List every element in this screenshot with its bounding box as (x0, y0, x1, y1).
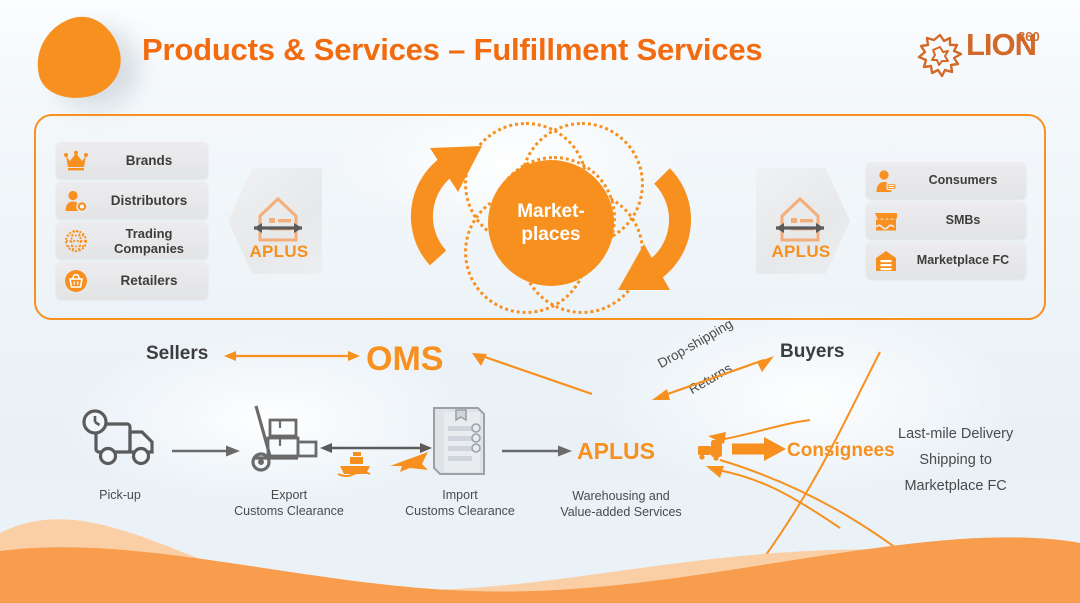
globe-icon (56, 229, 96, 253)
chip-label: Brands (96, 153, 208, 168)
consumer-person-icon (866, 169, 906, 193)
small-truck-icon (696, 436, 728, 464)
delivery-truck-clock-icon (78, 408, 164, 472)
sellers-oms-arrow (222, 345, 362, 367)
warehouse-icon (866, 249, 906, 273)
aplus-label: APLUS (232, 242, 326, 262)
slide-canvas: Products & Services – Fulfillment Servic… (0, 0, 1080, 603)
marketplaces-label-line1: Market- (517, 200, 585, 223)
chip-brands[interactable]: Brands (56, 142, 208, 179)
marketplaces-label-line2: places (521, 223, 580, 246)
aplus-warehouse-label: APLUS (577, 438, 655, 465)
last-mile-line2: Shipping to (898, 447, 1013, 473)
chip-label: Distributors (96, 193, 208, 208)
chip-label: SMBs (906, 213, 1026, 228)
chip-trading-companies[interactable]: Trading CompaniesTradingCompanies (56, 222, 208, 259)
chip-label: Consumers (906, 173, 1026, 188)
last-mile-line1: Last-mile Delivery (898, 421, 1013, 447)
chip-smbs[interactable]: SMBs (866, 202, 1026, 239)
bottom-wave-decoration (0, 493, 1080, 603)
logo-wordmark: 360 LION (966, 30, 1036, 60)
customs-document-icon (428, 406, 490, 478)
chip-label: Retailers (96, 273, 208, 288)
consignees-label: Consignees (787, 440, 895, 462)
flow-arrow-3 (502, 442, 576, 460)
marketplaces-graphic: Market- places (400, 118, 700, 318)
chip-distributors[interactable]: Distributors (56, 182, 208, 219)
person-badge-icon (56, 190, 96, 212)
oms-to-aplus-arrow (470, 350, 600, 400)
flow-arrow-1 (172, 442, 242, 460)
oms-label: OMS (366, 340, 443, 379)
last-mile-text: Last-mile Delivery Shipping to Marketpla… (898, 421, 1013, 499)
chip-marketplace-fc[interactable]: Marketplace FC (866, 242, 1026, 279)
hand-truck-boxes-icon (244, 404, 324, 474)
sellers-label: Sellers (146, 343, 208, 365)
shop-awning-icon (866, 210, 906, 232)
lion-star-icon (918, 34, 962, 76)
brand-logo: 360 LION (918, 28, 1048, 80)
consignee-big-arrow (730, 434, 790, 464)
chip-retailers[interactable]: Retailers (56, 262, 208, 299)
marketplaces-circle[interactable]: Market- places (488, 160, 614, 286)
airplane-icon (388, 446, 432, 474)
chip-label: Trading CompaniesTradingCompanies (96, 226, 208, 256)
chip-consumers[interactable]: Consumers (866, 162, 1026, 199)
chip-label: Marketplace FC (906, 253, 1026, 268)
crown-icon (56, 151, 96, 171)
page-title: Products & Services – Fulfillment Servic… (142, 32, 762, 68)
logo-360-superscript: 360 (1018, 30, 1040, 43)
basket-icon (56, 269, 96, 293)
